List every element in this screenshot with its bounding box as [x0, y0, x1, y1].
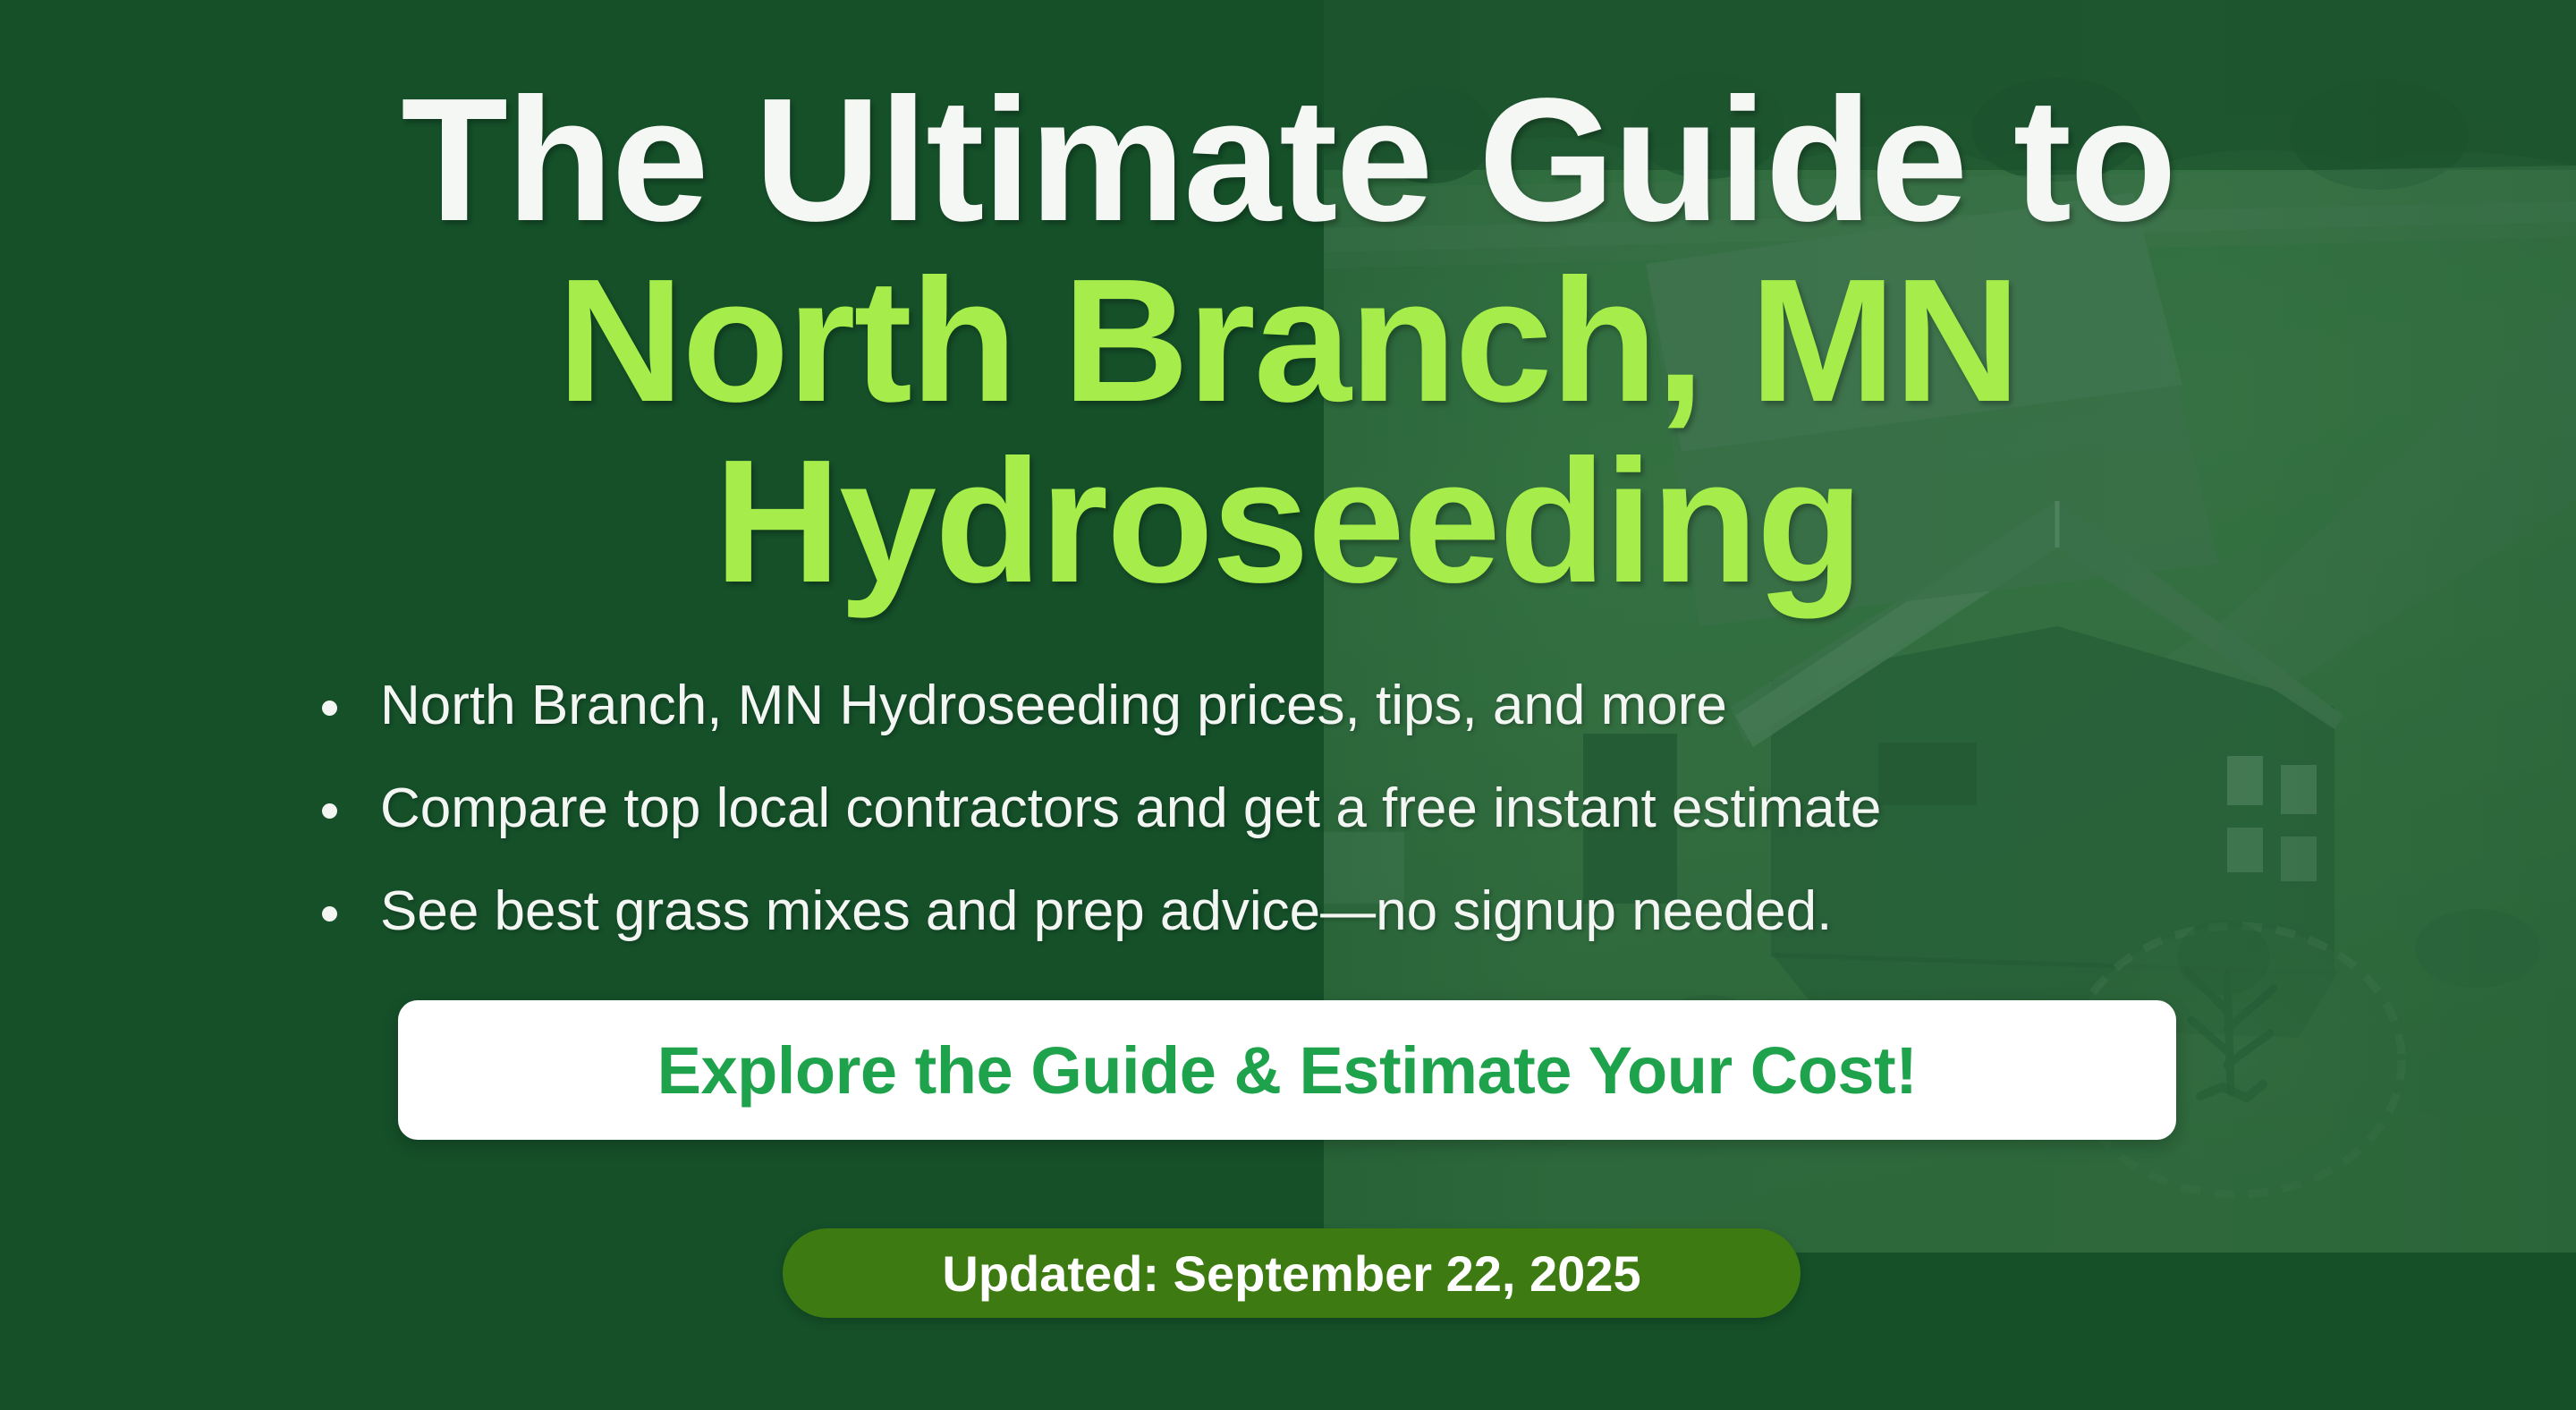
page-title-primary: The Ultimate Guide to: [0, 70, 2576, 251]
hero-banner: The Ultimate Guide to North Branch, MN H…: [0, 0, 2576, 1410]
list-item: See best grass mixes and prep advice—no …: [304, 879, 1881, 944]
bullet-dot-icon: [322, 803, 337, 819]
bullet-dot-icon: [322, 701, 337, 716]
list-item-label: See best grass mixes and prep advice—no …: [380, 880, 1832, 942]
list-item-label: Compare top local contractors and get a …: [380, 777, 1881, 839]
list-item: North Branch, MN Hydroseeding prices, ti…: [304, 673, 1881, 738]
feature-bullet-list: North Branch, MN Hydroseeding prices, ti…: [304, 673, 1881, 944]
headline-block: The Ultimate Guide to North Branch, MN H…: [0, 70, 2576, 612]
explore-guide-cta-button[interactable]: Explore the Guide & Estimate Your Cost!: [398, 1000, 2176, 1140]
last-updated-badge: Updated: September 22, 2025: [783, 1228, 1801, 1318]
list-item-label: North Branch, MN Hydroseeding prices, ti…: [380, 675, 1727, 736]
bullet-dot-icon: [322, 906, 337, 922]
page-title-accent-line-1: North Branch, MN: [0, 251, 2576, 431]
list-item: Compare top local contractors and get a …: [304, 776, 1881, 841]
page-title-accent-line-2: Hydroseeding: [0, 431, 2576, 612]
